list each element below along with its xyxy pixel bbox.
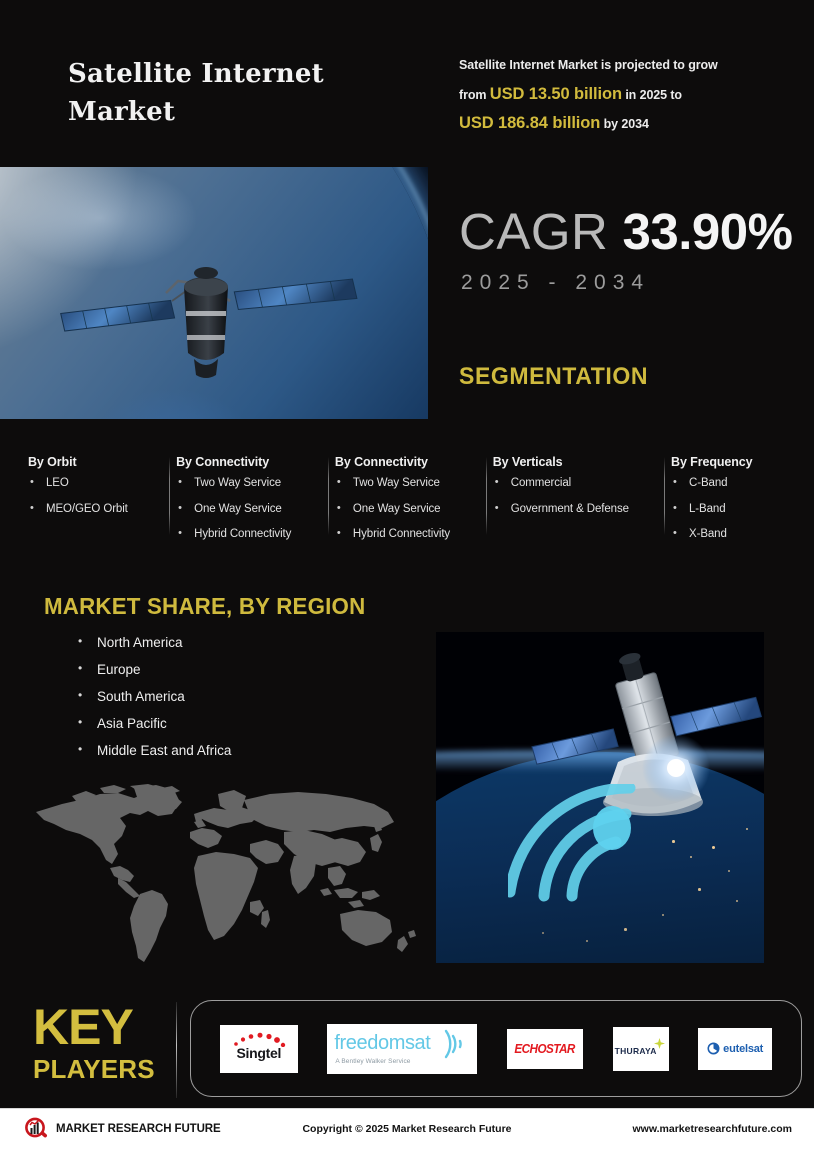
summary-mid-label: in 2025 to [625, 88, 682, 102]
thuraya-star-icon [654, 1038, 665, 1049]
segment-item: C-Band [671, 478, 778, 490]
segment-heading: By Connectivity [335, 455, 483, 469]
list-item: Asia Pacific [78, 717, 231, 731]
segment-item: L-Band [671, 504, 778, 516]
segmentation-columns: By Orbit LEO MEO/GEO Orbit By Connectivi… [28, 455, 788, 553]
cagr-label: CAGR [459, 203, 608, 260]
market-value-2025: USD 13.50 billion [490, 85, 622, 103]
world-map [22, 782, 422, 978]
summary-line-2: from USD 13.50 billion in 2025 to [459, 86, 769, 103]
column-divider [486, 457, 487, 535]
region-list: North America Europe South America Asia … [78, 636, 231, 771]
cagr-period: 2025 - 2034 [461, 271, 650, 295]
singtel-wordmark: Singtel [224, 1045, 294, 1061]
segment-item: Hybrid Connectivity [335, 529, 483, 541]
summary-tail-label: by 2034 [604, 117, 649, 131]
key-players-logo-box: Singtel freedomsat A Bentley Walker Serv… [190, 1000, 802, 1097]
market-value-2034: USD 186.84 billion [459, 114, 600, 132]
cagr-display: CAGR 33.90% [459, 206, 793, 257]
echostar-wordmark: ECHOSTAR [515, 1041, 575, 1056]
eutelsat-mark-icon [707, 1042, 720, 1055]
segment-item: Two Way Service [335, 478, 483, 490]
segmentation-title: SEGMENTATION [459, 363, 648, 391]
summary-line-1: Satellite Internet Market is projected t… [459, 59, 769, 72]
column-divider [328, 457, 329, 535]
column-divider [169, 457, 170, 535]
city-light [698, 888, 701, 891]
segment-column-frequency: By Frequency C-Band L-Band X-Band [671, 455, 788, 553]
key-players-divider [176, 1002, 177, 1098]
page-title: Satellite Internet Market [68, 56, 408, 131]
logo-thuraya[interactable]: THURAYA [613, 1027, 669, 1071]
thuraya-wordmark: THURAYA [615, 1046, 657, 1056]
segment-item: Hybrid Connectivity [176, 529, 325, 541]
cagr-value: 33.90% [623, 203, 793, 260]
satellite-earth-image [0, 167, 428, 419]
segment-heading: By Orbit [28, 455, 166, 469]
footer-website-url[interactable]: www.marketresearchfuture.com [632, 1123, 792, 1135]
signal-waves-icon [508, 784, 648, 904]
market-summary: Satellite Internet Market is projected t… [459, 59, 769, 145]
segment-column-orbit: By Orbit LEO MEO/GEO Orbit [28, 455, 176, 553]
market-share-title: MARKET SHARE, BY REGION [44, 593, 365, 620]
segment-heading: By Verticals [493, 455, 661, 469]
city-light [586, 940, 588, 942]
segment-item: One Way Service [176, 504, 325, 516]
footer-divider [0, 1108, 814, 1109]
segment-column-connectivity-2: By Connectivity Two Way Service One Way … [335, 455, 493, 553]
satellite-illustration [54, 241, 374, 381]
segment-item: Two Way Service [176, 478, 325, 490]
key-players-title: KEY PLAYERS [33, 1003, 163, 1082]
city-light [542, 932, 544, 934]
list-item: Europe [78, 663, 231, 677]
list-item: Middle East and Africa [78, 744, 231, 758]
infographic-page: Satellite Internet Market Satellite Inte… [0, 0, 814, 1150]
segment-item: Government & Defense [493, 504, 661, 516]
segment-heading: By Frequency [671, 455, 778, 469]
segment-heading: By Connectivity [176, 455, 325, 469]
eutelsat-wordmark: eutelsat [723, 1043, 763, 1055]
city-light [624, 928, 627, 931]
segment-item: Commercial [493, 478, 661, 490]
freedomsat-tagline: A Bentley Walker Service [335, 1058, 410, 1065]
summary-from-label: from [459, 88, 486, 102]
logo-eutelsat[interactable]: eutelsat [698, 1028, 772, 1070]
column-divider [664, 457, 665, 535]
summary-line-3: USD 186.84 billion by 2034 [459, 115, 769, 132]
city-light [662, 914, 664, 916]
segment-item: LEO [28, 478, 166, 490]
logo-echostar[interactable]: ECHOSTAR [507, 1029, 583, 1069]
segment-column-verticals: By Verticals Commercial Government & Def… [493, 455, 671, 553]
freedomsat-wordmark: freedomsat [334, 1032, 430, 1055]
key-players-line-1: KEY [33, 1003, 163, 1051]
list-item: South America [78, 690, 231, 704]
list-item: North America [78, 636, 231, 650]
segment-item: X-Band [671, 529, 778, 541]
logo-singtel[interactable]: Singtel [220, 1025, 298, 1073]
segment-column-connectivity-1: By Connectivity Two Way Service One Way … [176, 455, 335, 553]
city-light [690, 856, 692, 858]
satellite-signal-image [436, 632, 764, 963]
key-players-line-2: PLAYERS [33, 1057, 163, 1082]
city-light [728, 870, 730, 872]
segment-item: One Way Service [335, 504, 483, 516]
logo-freedomsat[interactable]: freedomsat A Bentley Walker Service [327, 1024, 477, 1074]
page-footer: MARKET RESEARCH FUTURE Copyright © 2025 … [0, 1108, 814, 1150]
freedomsat-signal-icon [438, 1027, 472, 1061]
segment-item: MEO/GEO Orbit [28, 504, 166, 516]
city-light [736, 900, 738, 902]
